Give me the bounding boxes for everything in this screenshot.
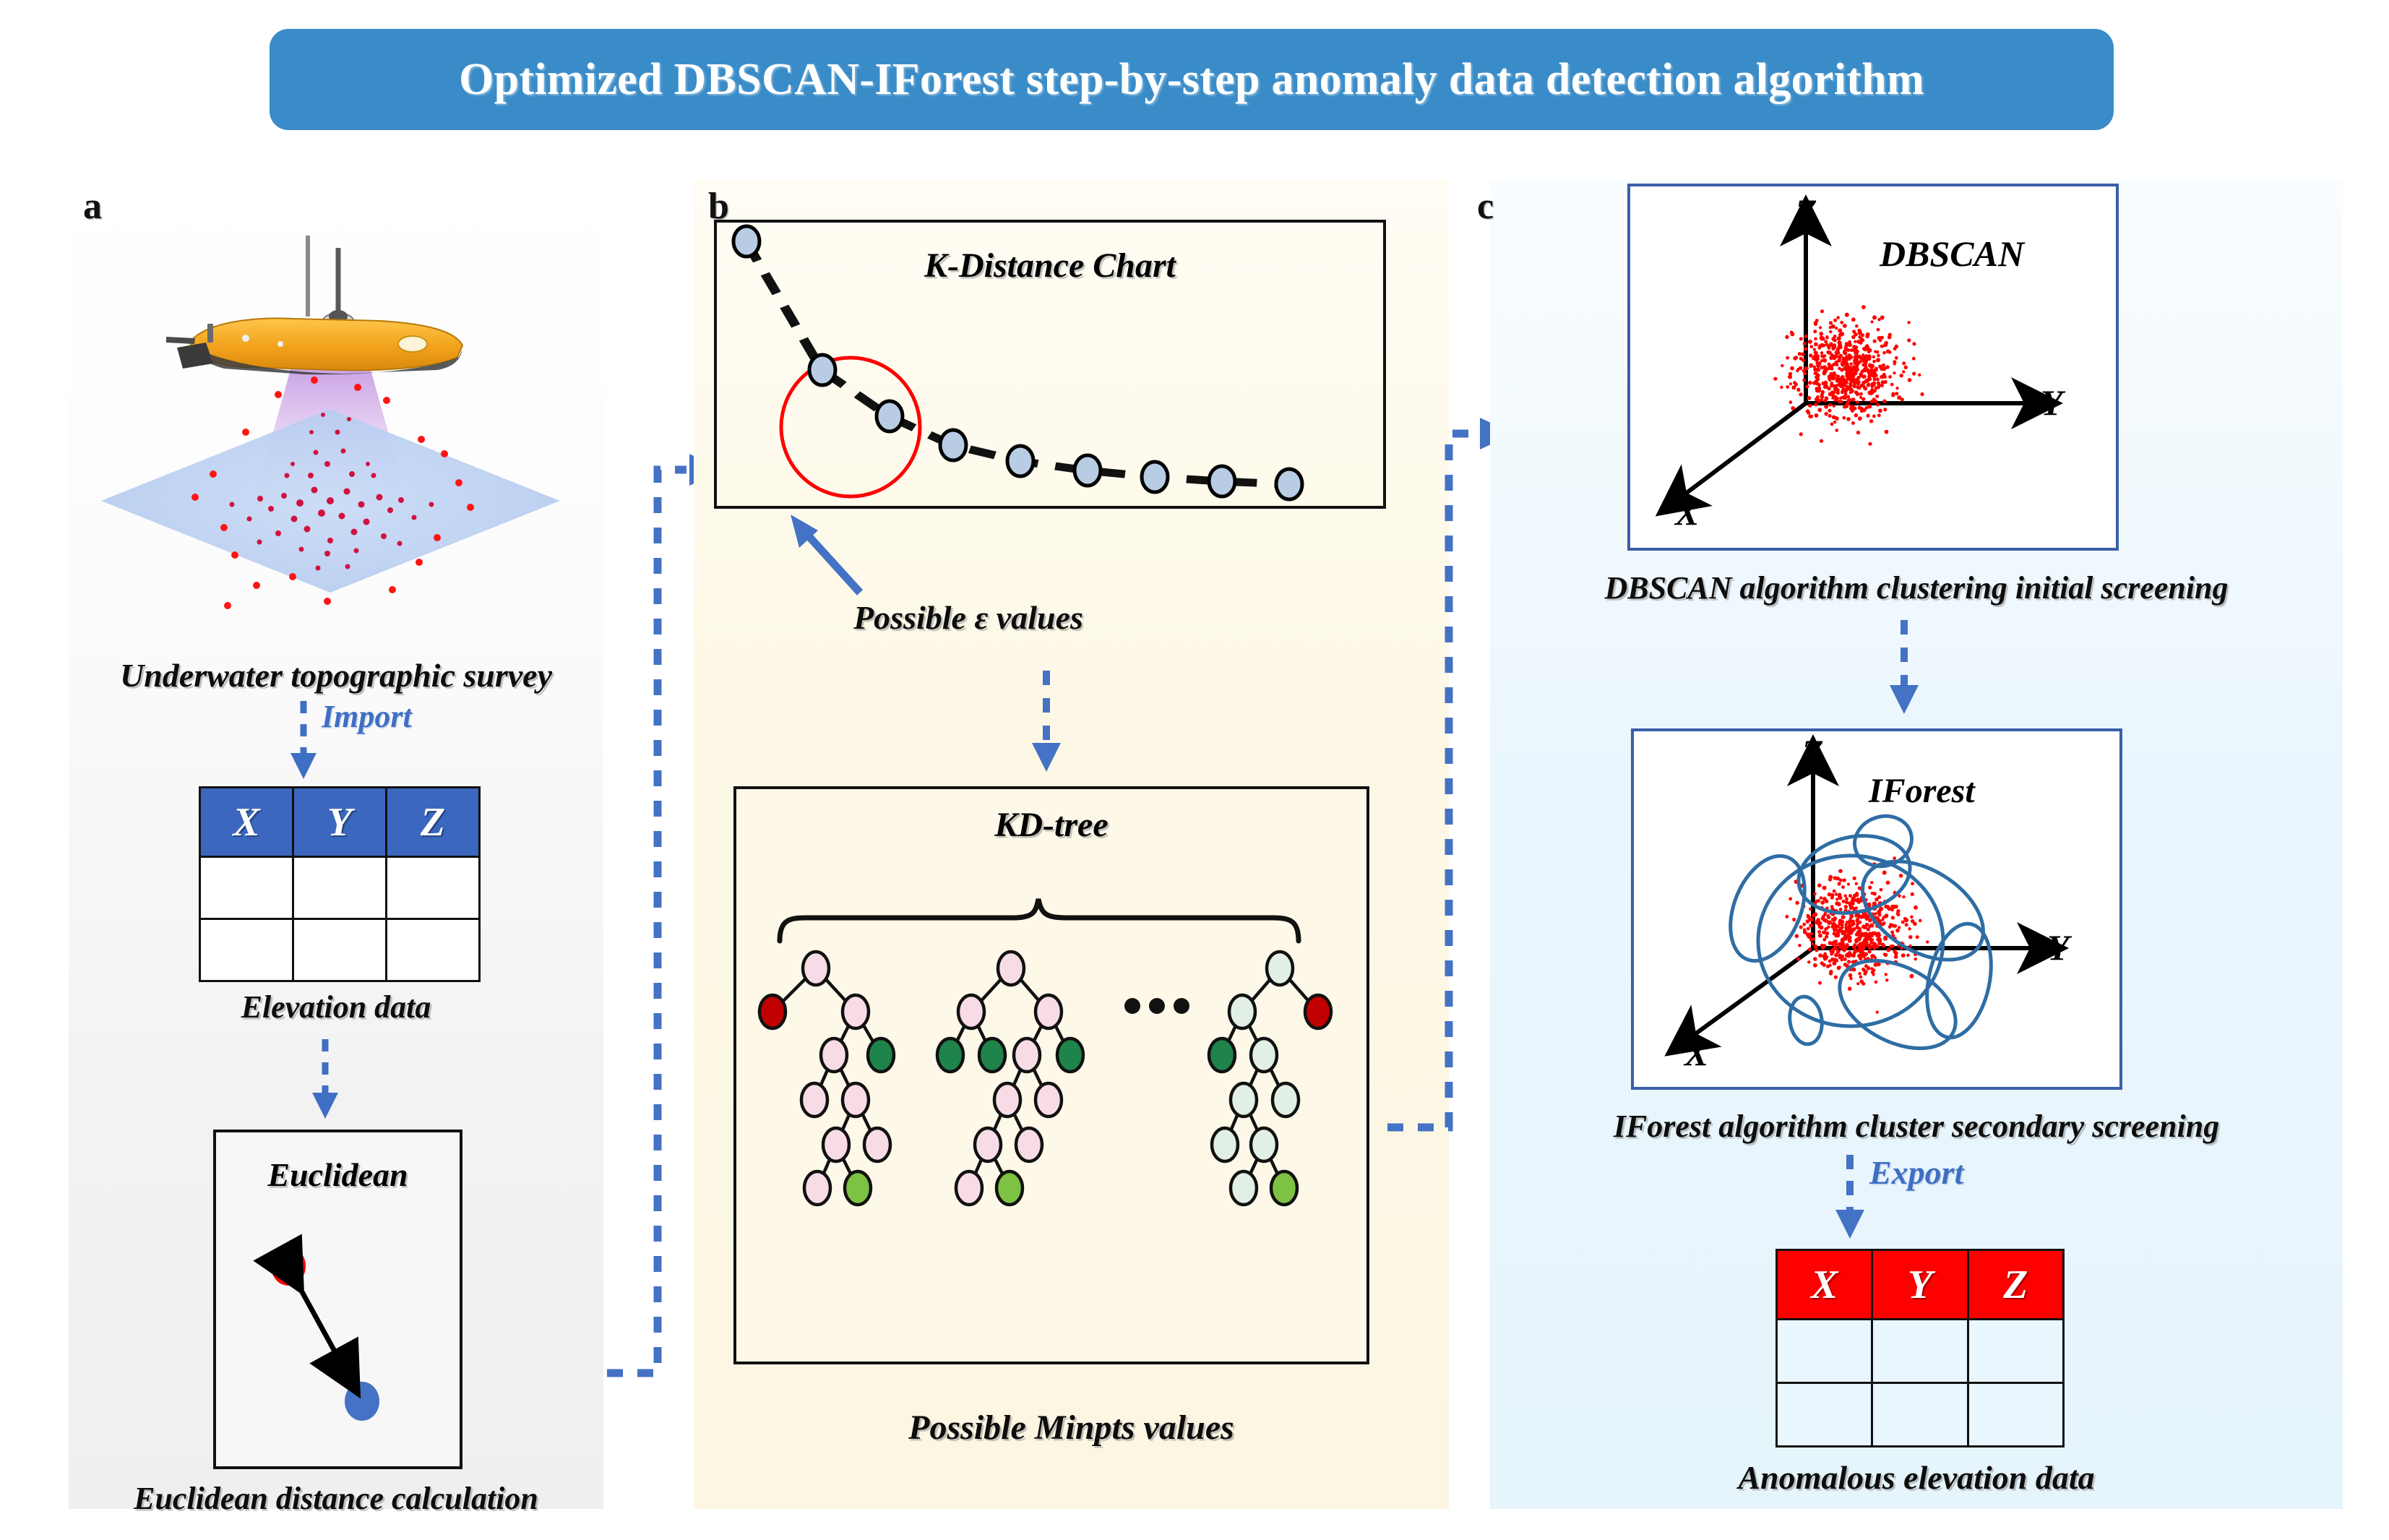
import-label: Import [322, 698, 412, 735]
header-cell-y: Y [293, 788, 387, 857]
x-axis-label: X [1683, 1033, 1710, 1073]
cell [1777, 1383, 1872, 1447]
k-distance-markers [733, 226, 1302, 499]
panel-c: c Z Y X DBSCAN DBSCAN algorithm clus [1490, 179, 2343, 1509]
y-axis-label: Y [2041, 382, 2066, 423]
k-distance-chart: K-Distance Chart [714, 220, 1386, 509]
elevation-data-table: X Y Z [199, 786, 481, 982]
anomalous-data-table: X Y Z [1775, 1249, 2065, 1447]
page-title: Optimized DBSCAN-IForest step-by-step an… [459, 54, 1924, 106]
table-header-row: X Y Z [200, 788, 480, 857]
table-row [200, 919, 480, 981]
underwater-survey-illustration [98, 215, 574, 649]
cell [387, 857, 480, 919]
cell [200, 919, 293, 981]
kd-tree-2 [937, 952, 1083, 1205]
kd-leaf-green [868, 1038, 894, 1072]
survey-vessel-icon [166, 236, 462, 374]
header-cell-y: Y [1872, 1250, 1968, 1320]
kd-tree-box: KD-tree [733, 786, 1369, 1364]
panel-a: a [69, 179, 603, 1509]
point-b [345, 1382, 379, 1421]
x-axis [1687, 403, 1806, 493]
epsilon-label: Possible ε values [766, 598, 1171, 637]
iforest-caption: IForest algorithm cluster secondary scre… [1490, 1108, 2343, 1145]
panel-c-letter: c [1477, 185, 1494, 228]
panel-b: b K-Distance Chart [694, 179, 1449, 1509]
z-axis-label: Z [1794, 192, 1817, 232]
anomalous-caption: Anomalous elevation data [1490, 1458, 2343, 1497]
dbscan-scatter-cloud [1773, 305, 1924, 446]
cell [1968, 1383, 2063, 1447]
title-banner: Optimized DBSCAN-IForest step-by-step an… [270, 29, 2114, 130]
y-axis-label: Y [2047, 927, 2072, 968]
cell [1872, 1383, 1968, 1447]
iforest-plot-box: Z Y X IForest [1631, 728, 2122, 1090]
k-distance-plot [717, 223, 1383, 506]
survey-caption: Underwater topographic survey [69, 656, 603, 694]
flow-arrow-euclidean [307, 1039, 365, 1126]
iforest-3d-scatter: Z Y X IForest [1634, 731, 2119, 1087]
flow-arrow-iforest [1884, 620, 1949, 721]
dbscan-plot-box: Z Y X DBSCAN [1627, 184, 2119, 551]
kd-tree-brace [780, 899, 1299, 941]
table-row [1777, 1320, 2064, 1383]
cell [293, 919, 387, 981]
x-axis-label: X [1674, 492, 1700, 533]
kd-leaf-red [759, 995, 785, 1028]
header-cell-x: X [1777, 1250, 1872, 1320]
euclidean-distance-diagram [216, 1132, 465, 1472]
table-row [1777, 1383, 2064, 1447]
iforest-label: IForest [1868, 772, 1976, 810]
elevation-caption: Elevation data [69, 989, 603, 1025]
flow-arrow-kdtree [1026, 671, 1091, 779]
table-header-row: X Y Z [1777, 1250, 2064, 1320]
kd-tree-3 [1209, 952, 1331, 1205]
cell [1872, 1320, 1968, 1383]
kd-tree-ellipsis [1124, 998, 1189, 1014]
table-row [200, 857, 480, 919]
dbscan-caption: DBSCAN algorithm clustering initial scre… [1490, 569, 2343, 606]
epsilon-pointer-arrow [773, 506, 961, 600]
kd-tree-1 [759, 952, 894, 1205]
cell [1777, 1320, 1872, 1383]
euclidean-box: Euclidean [213, 1130, 462, 1469]
cell [387, 919, 480, 981]
cell [200, 857, 293, 919]
export-label: Export [1869, 1153, 1963, 1192]
dbscan-3d-scatter: Z Y X DBSCAN [1630, 186, 2116, 548]
minpts-caption: Possible Minpts values [694, 1408, 1449, 1447]
kd-tree-forest [736, 789, 1366, 1362]
header-cell-z: Z [387, 788, 480, 857]
point-a [271, 1247, 306, 1286]
kd-leaf-lightgreen [845, 1171, 871, 1205]
header-cell-z: Z [1968, 1250, 2063, 1320]
dbscan-label: DBSCAN [1879, 233, 2026, 274]
euclidean-caption: Euclidean distance calculation [40, 1480, 632, 1517]
z-axis-label: Z [1801, 732, 1824, 773]
header-cell-x: X [200, 788, 293, 857]
cell [293, 857, 387, 919]
cell [1968, 1320, 2063, 1383]
